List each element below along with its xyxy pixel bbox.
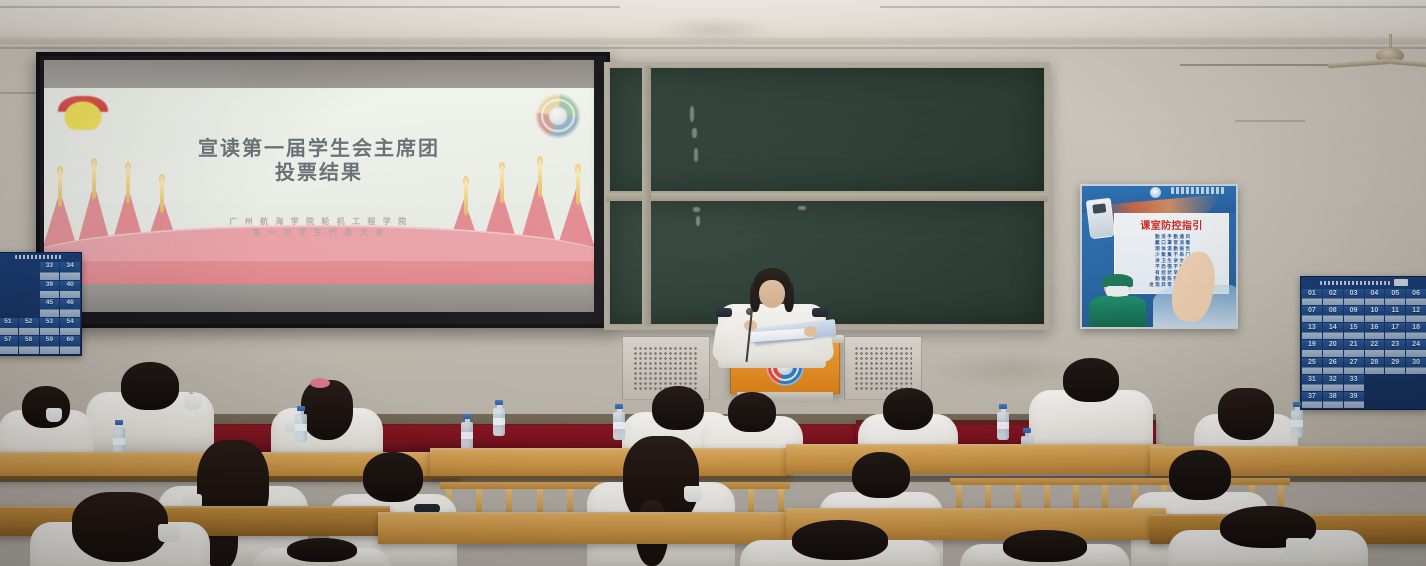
pocket-slot[interactable]: 51 (0, 318, 18, 336)
pocket-slot-empty (1406, 375, 1426, 391)
pocket-slot-number: 27 (1350, 358, 1358, 366)
pocket-board-header (0, 253, 81, 261)
pocket-slot-empty (19, 281, 39, 299)
pocket-slot[interactable]: 27 (1344, 358, 1364, 374)
wall-seam (1235, 120, 1305, 122)
pocket-slot-number: 52 (25, 318, 32, 326)
pocket-slot-number: 08 (1329, 306, 1337, 314)
poster-body: 课室防控指引 勤 洗 手 勤 通 风 戴 口 罩 常 消 毒 测 体 温 勤 报… (1080, 184, 1238, 329)
pocket-slot-empty (19, 299, 39, 317)
slide-title: 宣读第一届学生会主席团 投票结果 (44, 137, 594, 186)
poster-school-logo-icon (1150, 187, 1161, 198)
pocket-slot[interactable]: 38 (1323, 392, 1343, 408)
pocket-slot-number: 46 (67, 299, 74, 307)
pocket-slot[interactable]: 09 (1344, 306, 1364, 322)
slide-title-line-1: 宣读第一届学生会主席团 (44, 137, 594, 161)
water-bottle (112, 420, 126, 456)
pocket-slot-number: 23 (1391, 340, 1399, 348)
pocket-board-header-text (15, 255, 62, 259)
pocket-slot-empty (1365, 392, 1385, 408)
pocket-slot[interactable]: 17 (1385, 323, 1405, 339)
pocket-slot[interactable]: 05 (1385, 289, 1405, 305)
pocket-slot-number: 33 (46, 262, 53, 270)
pocket-slot-number: 20 (1329, 340, 1337, 348)
pocket-slot-number: 34 (67, 262, 74, 270)
water-bottle (492, 400, 506, 436)
pocket-slot-empty (1365, 375, 1385, 391)
phone-pocket-board-right[interactable]: 0102030405060708091011121314151617181920… (1300, 276, 1426, 410)
pocket-slot-number: 09 (1350, 306, 1358, 314)
student-speaker (692, 268, 852, 346)
pocket-slot-number: 33 (1350, 375, 1358, 383)
pocket-slot[interactable]: 07 (1302, 306, 1322, 322)
pocket-slot-number: 01 (1308, 289, 1316, 297)
pocket-slot-number: 13 (1308, 323, 1316, 331)
slide-subtitle-line-1: 广 州 航 海 学 院 轮 机 工 程 学 院 (44, 216, 594, 228)
pocket-slot[interactable]: 12 (1406, 306, 1426, 322)
student (1028, 358, 1154, 454)
student (1168, 506, 1368, 566)
pocket-slot[interactable]: 08 (1323, 306, 1343, 322)
water-bottle (460, 414, 474, 450)
ceiling-seam (880, 6, 1426, 8)
student (84, 362, 216, 452)
pocket-slot[interactable]: 28 (1365, 358, 1385, 374)
pocket-slot-empty (1385, 375, 1405, 391)
speaker-grille (633, 346, 698, 391)
screen-letterbox-top (44, 60, 594, 88)
pocket-slot-number: 22 (1371, 340, 1379, 348)
pocket-slot-number: 26 (1329, 358, 1337, 366)
pocket-slot-empty (1385, 392, 1405, 408)
pocket-slot[interactable]: 32 (1323, 375, 1343, 391)
pocket-slot[interactable]: 30 (1406, 358, 1426, 374)
pocket-slot-number: 30 (1412, 358, 1420, 366)
pocket-slot-number: 39 (46, 281, 53, 289)
water-bottle (1290, 402, 1304, 438)
chalk-mark (694, 148, 698, 162)
pocket-slot-number: 16 (1371, 323, 1379, 331)
pocket-slot[interactable]: 06 (1406, 289, 1426, 305)
pocket-slot[interactable]: 01 (1302, 289, 1322, 305)
pocket-slot-number: 21 (1350, 340, 1358, 348)
pocket-slot[interactable]: 25 (1302, 358, 1322, 374)
pocket-slot-number: 59 (46, 336, 53, 344)
pocket-slot-number: 11 (1392, 306, 1399, 314)
pocket-slot[interactable]: 20 (1323, 340, 1343, 356)
microphone-head-icon (746, 308, 753, 315)
pocket-slot[interactable]: 02 (1323, 289, 1343, 305)
youth-league-emblem-icon (58, 96, 108, 130)
pocket-slot-number: 32 (1329, 375, 1337, 383)
medical-worker-illustration (1085, 276, 1150, 327)
pocket-slot-number: 05 (1391, 289, 1399, 297)
epaulet (812, 308, 828, 317)
pocket-slot[interactable]: 33 (40, 262, 60, 280)
face-mask-icon (1106, 286, 1129, 295)
slide-subtitle: 广 州 航 海 学 院 轮 机 工 程 学 院 第 一 次 学 生 代 表 大 … (44, 216, 594, 239)
pocket-slot[interactable]: 59 (40, 336, 60, 354)
pocket-slot[interactable]: 24 (1406, 340, 1426, 356)
student (960, 530, 1130, 566)
fan-blade (1390, 59, 1426, 69)
pocket-slot-number: 39 (1350, 392, 1358, 400)
pocket-slot-empty (0, 281, 18, 299)
water-bottle (612, 404, 626, 440)
pocket-slot-number: 54 (67, 318, 74, 326)
speaker-grille (854, 346, 912, 391)
pocket-slot[interactable]: 13 (1302, 323, 1322, 339)
pocket-slot-number: 14 (1329, 323, 1337, 331)
pocket-slot-number: 24 (1412, 340, 1420, 348)
pocket-slot-number: 60 (67, 336, 74, 344)
pocket-slot[interactable]: 46 (60, 299, 80, 317)
fan-blade (1328, 59, 1390, 68)
pocket-slot[interactable]: 29 (1385, 358, 1405, 374)
pocket-slot[interactable]: 45 (40, 299, 60, 317)
pocket-slot[interactable]: 53 (40, 318, 60, 336)
pocket-board-grid: 0102030405060708091011121314151617181920… (1301, 288, 1426, 409)
chalk-mark (690, 106, 694, 122)
student (252, 538, 392, 566)
pocket-slot-number: 04 (1371, 289, 1379, 297)
hand-right (804, 326, 817, 337)
pocket-slot[interactable]: 31 (1302, 375, 1322, 391)
pocket-slot-number: 07 (1308, 306, 1316, 314)
pocket-slot-number: 37 (1308, 392, 1316, 400)
chalk-mark (696, 216, 700, 226)
chalk-mark (692, 128, 697, 138)
pocket-slot[interactable]: 37 (1302, 392, 1322, 408)
pocket-slot-number: 15 (1350, 323, 1358, 331)
pocket-slot-number: 17 (1391, 323, 1399, 331)
pocket-slot[interactable]: 11 (1385, 306, 1405, 322)
lecture-desk (378, 512, 788, 544)
pocket-slot[interactable]: 26 (1323, 358, 1343, 374)
fan-wire (1180, 64, 1340, 66)
pocket-slot[interactable]: 57 (0, 336, 18, 354)
pocket-board-header-text (1320, 281, 1391, 285)
pocket-slot[interactable]: 60 (60, 336, 80, 354)
pocket-slot-number: 18 (1412, 323, 1420, 331)
pocket-slot-empty (19, 262, 39, 280)
pocket-slot[interactable]: 04 (1365, 289, 1385, 305)
pocket-slot[interactable]: 33 (1344, 375, 1364, 391)
wall-trim-line (0, 47, 1426, 49)
chalk-mark (798, 206, 806, 210)
pocket-board-header (1301, 277, 1426, 288)
pocket-slot[interactable]: 03 (1344, 289, 1364, 305)
worker-scrubs (1089, 296, 1146, 327)
pocket-slot-number: 25 (1308, 358, 1316, 366)
pocket-slot-number: 38 (1329, 392, 1337, 400)
face (759, 280, 785, 308)
screen-letterbox-bottom (44, 284, 594, 312)
classroom-photo: 宣读第一届学生会主席团 投票结果 广 州 航 海 学 院 轮 机 工 程 学 院… (0, 0, 1426, 566)
pocket-slot[interactable]: 39 (40, 281, 60, 299)
pocket-slot[interactable]: 34 (60, 262, 80, 280)
pocket-slot-number: 02 (1329, 289, 1337, 297)
pocket-slot-number: 28 (1371, 358, 1379, 366)
blackboard-panel-top (610, 68, 1044, 191)
pocket-board-badge (1394, 279, 1408, 286)
pocket-slot-empty (0, 299, 18, 317)
poster-title: 课室防控指引 (1115, 217, 1227, 232)
projection-screen[interactable]: 宣读第一届学生会主席团 投票结果 广 州 航 海 学 院 轮 机 工 程 学 院… (36, 52, 602, 320)
pocket-slot-empty (0, 262, 18, 280)
pocket-slot[interactable]: 22 (1365, 340, 1385, 356)
pocket-slot[interactable]: 23 (1385, 340, 1405, 356)
student (586, 436, 736, 566)
phone-pocket-board-left[interactable]: 3334394045465152535457585960 (0, 252, 82, 356)
pocket-slot-number: 53 (46, 318, 53, 326)
pocket-slot-number: 12 (1412, 306, 1420, 314)
pocket-slot-number: 40 (67, 281, 74, 289)
pocket-slot-number: 29 (1391, 358, 1399, 366)
epidemic-prevention-poster: 课室防控指引 勤 洗 手 勤 通 风 戴 口 罩 常 消 毒 测 体 温 勤 报… (1080, 184, 1238, 329)
pocket-slot-number: 03 (1350, 289, 1358, 297)
pocket-slot[interactable]: 58 (19, 336, 39, 354)
pocket-slot-number: 19 (1308, 340, 1316, 348)
pocket-slot[interactable]: 16 (1365, 323, 1385, 339)
epaulet (716, 308, 732, 317)
pocket-slot[interactable]: 15 (1344, 323, 1364, 339)
pocket-slot[interactable]: 21 (1344, 340, 1364, 356)
pocket-slot-number: 06 (1412, 289, 1420, 297)
ceiling-fan (1330, 34, 1426, 74)
pocket-slot[interactable]: 18 (1406, 323, 1426, 339)
pocket-slot[interactable]: 54 (60, 318, 80, 336)
water-bottle (996, 404, 1010, 440)
pocket-slot[interactable]: 52 (19, 318, 39, 336)
pocket-slot[interactable]: 39 (1344, 392, 1364, 408)
pocket-slot-number: 10 (1371, 306, 1379, 314)
poster-brand-text (1171, 187, 1223, 194)
student (740, 520, 940, 566)
pocket-slot[interactable]: 40 (60, 281, 80, 299)
pocket-slot-empty (1406, 392, 1426, 408)
student (30, 492, 210, 566)
pocket-slot-number: 45 (46, 299, 53, 307)
pocket-slot-number: 31 (1308, 375, 1316, 383)
school-emblem-icon (536, 94, 580, 138)
presentation-slide: 宣读第一届学生会主席团 投票结果 广 州 航 海 学 院 轮 机 工 程 学 院… (44, 88, 594, 285)
blackboard-divider (642, 66, 651, 326)
pocket-slot[interactable]: 10 (1365, 306, 1385, 322)
screen-surface: 宣读第一届学生会主席团 投票结果 广 州 航 海 学 院 轮 机 工 程 学 院… (44, 60, 594, 312)
water-bottle (294, 406, 308, 442)
slide-subtitle-line-2: 第 一 次 学 生 代 表 大 会 (44, 227, 594, 239)
pocket-slot-number: 57 (4, 336, 11, 344)
pocket-slot-number: 51 (4, 318, 11, 326)
slide-title-line-2: 投票结果 (44, 161, 594, 185)
pocket-slot[interactable]: 14 (1323, 323, 1343, 339)
pocket-slot-number: 58 (25, 336, 32, 344)
pocket-board-grid: 3334394045465152535457585960 (0, 261, 81, 355)
thermometer-icon (1086, 197, 1116, 238)
pocket-slot[interactable]: 19 (1302, 340, 1322, 356)
chalk-mark (693, 207, 700, 212)
ceiling-seam (0, 6, 620, 8)
